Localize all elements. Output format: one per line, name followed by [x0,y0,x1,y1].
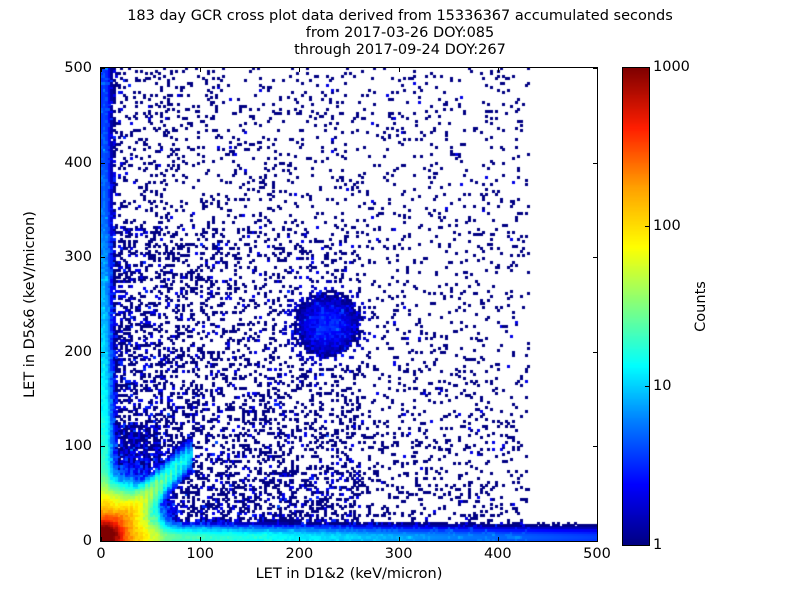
plot-axes [100,67,598,542]
colorbar [622,67,650,546]
plot-title-line-3: through 2017-09-24 DOY:267 [0,42,800,59]
heatmap-scatter-layer [101,68,597,541]
figure-canvas: 183 day GCR cross plot data derived from… [0,0,800,600]
x-tick-label: 200 [286,546,314,562]
y-tick-right-100 [593,446,597,447]
y-tick-500 [101,68,105,69]
y-axis-label: LET in D5&6 (keV/micron) [22,67,40,542]
colorbar-tick-100 [645,226,649,227]
colorbar-gradient [623,68,649,545]
plot-title: 183 day GCR cross plot data derived from… [0,8,800,59]
y-tick-label: 300 [48,249,92,265]
plot-title-line-2: from 2017-03-26 DOY:085 [0,25,800,42]
y-tick-0 [101,541,105,542]
colorbar-tick-10 [645,386,649,387]
x-tick-100 [200,537,201,541]
x-tick-top-200 [299,68,300,72]
x-tick-300 [399,537,400,541]
y-tick-label: 400 [48,155,92,171]
colorbar-tick-label: 10 [653,378,671,394]
y-tick-right-500 [593,68,597,69]
x-tick-top-400 [498,68,499,72]
y-tick-right-0 [593,541,597,542]
y-tick-100 [101,446,105,447]
colorbar-tick-label: 1000 [653,59,690,75]
x-tick-400 [498,537,499,541]
x-tick-label: 400 [484,546,512,562]
x-tick-top-500 [597,68,598,72]
x-axis-label: LET in D1&2 (keV/micron) [100,566,598,582]
colorbar-label: Counts [693,67,711,546]
y-tick-right-200 [593,352,597,353]
y-tick-label: 500 [48,60,92,76]
x-tick-label: 100 [186,546,214,562]
y-tick-300 [101,257,105,258]
x-tick-500 [597,537,598,541]
y-tick-label: 100 [48,438,92,454]
x-tick-200 [299,537,300,541]
y-tick-200 [101,352,105,353]
x-tick-top-300 [399,68,400,72]
x-tick-label: 0 [96,546,105,562]
x-tick-label: 500 [583,546,611,562]
y-tick-label: 0 [48,533,92,549]
y-tick-right-400 [593,163,597,164]
colorbar-tick-label: 100 [653,218,681,234]
y-tick-right-300 [593,257,597,258]
y-tick-label: 200 [48,344,92,360]
x-tick-top-100 [200,68,201,72]
y-tick-400 [101,163,105,164]
plot-title-line-1: 183 day GCR cross plot data derived from… [0,8,800,25]
x-tick-label: 300 [385,546,413,562]
colorbar-tick-label: 1 [653,537,662,553]
